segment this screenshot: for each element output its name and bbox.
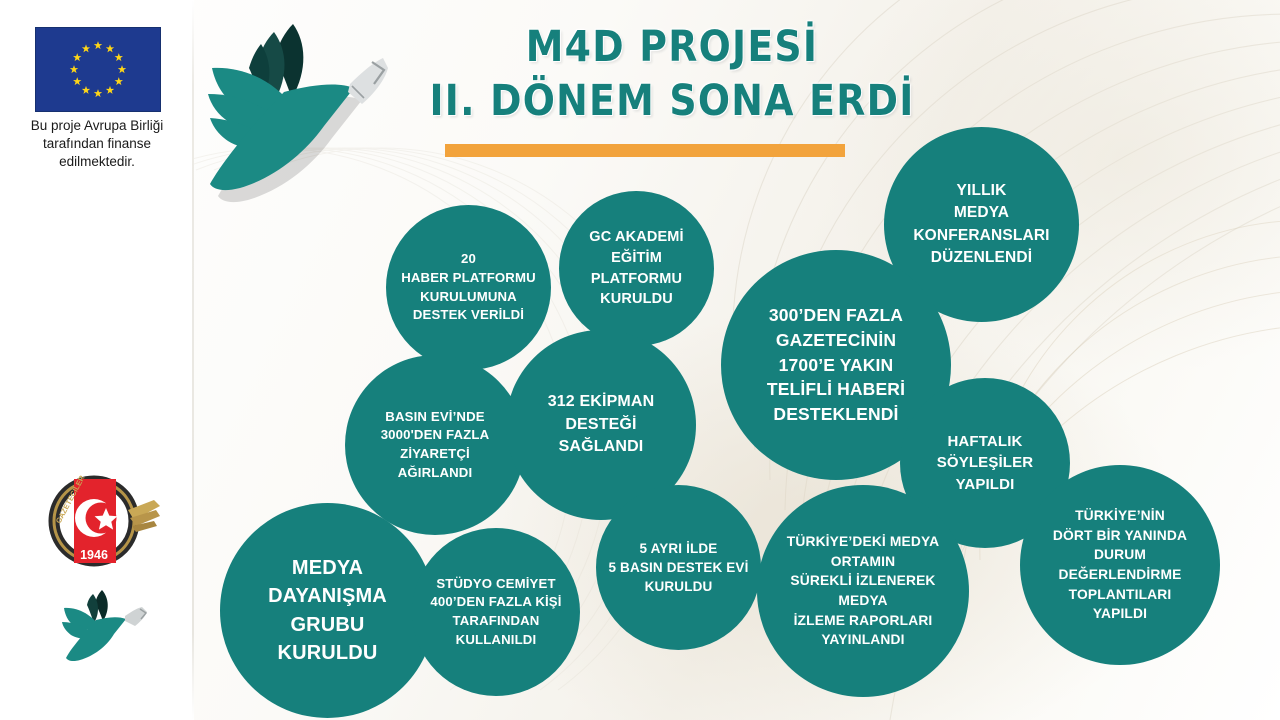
gazeteciler-cemiyeti-logo-icon: 1946 GAZETECILER (36, 466, 164, 576)
eu-funding-caption: Bu proje Avrupa Birliği tarafından finan… (12, 117, 182, 171)
bubble-label: HAFTALIKSÖYLEŞİLERYAPILDI (907, 431, 1063, 495)
bubble-label: GC AKADEMİEĞİTİMPLATFORMUKURULDU (565, 227, 708, 309)
bubble-label: MEDYADAYANIŞMAGRUBUKURULDU (229, 554, 427, 668)
bubble-gc-akademi: GC AKADEMİEĞİTİMPLATFORMUKURULDU (559, 191, 714, 346)
bubble-medya-dayanisma-grubu: MEDYADAYANIŞMAGRUBUKURULDU (220, 503, 435, 718)
bubble-label: 300’DEN FAZLAGAZETECİNİN1700’E YAKINTELİ… (730, 303, 942, 427)
bubble-haber-platformu: 20HABER PLATFORMUKURULUMUNADESTEK VERİLD… (386, 205, 551, 370)
svg-text:1946: 1946 (80, 548, 108, 562)
bubble-basin-destek-evi: 5 AYRI İLDE5 BASIN DESTEK EVİKURULDU (596, 485, 761, 650)
sidebar-divider (192, 0, 194, 720)
bubble-studyo-cemiyet: STÜDYO CEMİYET400’DEN FAZLA KİŞİTARAFIND… (412, 528, 580, 696)
bubble-label: 5 AYRI İLDE5 BASIN DESTEK EVİKURULDU (603, 539, 755, 597)
title-line-1: M4D PROJESİ (426, 22, 919, 72)
bubble-label: STÜDYO CEMİYET400’DEN FAZLA KİŞİTARAFIND… (419, 575, 574, 650)
bird-pen-logo-icon-small (52, 576, 156, 668)
bubble-label: BASIN EVİ’NDE3000'DEN FAZLAZİYARETÇİAĞIR… (352, 408, 518, 483)
bubble-label: 20HABER PLATFORMUKURULUMUNADESTEK VERİLD… (393, 250, 545, 325)
bubble-label: TÜRKİYE’NİNDÖRT BİR YANINDADURUMDEĞERLEN… (1028, 506, 1212, 624)
bubble-medya-izleme-raporlari: TÜRKİYE’DEKİ MEDYAORTAMINSÜREKLİ İZLENER… (757, 485, 969, 697)
infographic-canvas: Bu proje Avrupa Birliği tarafından finan… (0, 0, 1280, 720)
page-title: M4D PROJESİ II. DÖNEM SONA ERDİ (392, 22, 952, 126)
eu-flag-icon (35, 27, 161, 112)
bubble-label: TÜRKİYE’DEKİ MEDYAORTAMINSÜREKLİ İZLENER… (765, 532, 960, 650)
title-line-2: II. DÖNEM SONA ERDİ (426, 76, 919, 126)
bubble-label: 312 EKİPMANDESTEĞİSAĞLANDI (514, 391, 689, 459)
title-underline-bar (445, 144, 845, 157)
bubble-durum-degerlendirme: TÜRKİYE’NİNDÖRT BİR YANINDADURUMDEĞERLEN… (1020, 465, 1220, 665)
bubble-basin-evi-ziyaretci: BASIN EVİ’NDE3000'DEN FAZLAZİYARETÇİAĞIR… (345, 355, 525, 535)
bird-pen-logo-icon-large (196, 6, 390, 204)
bubble-label: YILLIKMEDYAKONFERANSLARIDÜZENLENDİ (892, 180, 1071, 268)
